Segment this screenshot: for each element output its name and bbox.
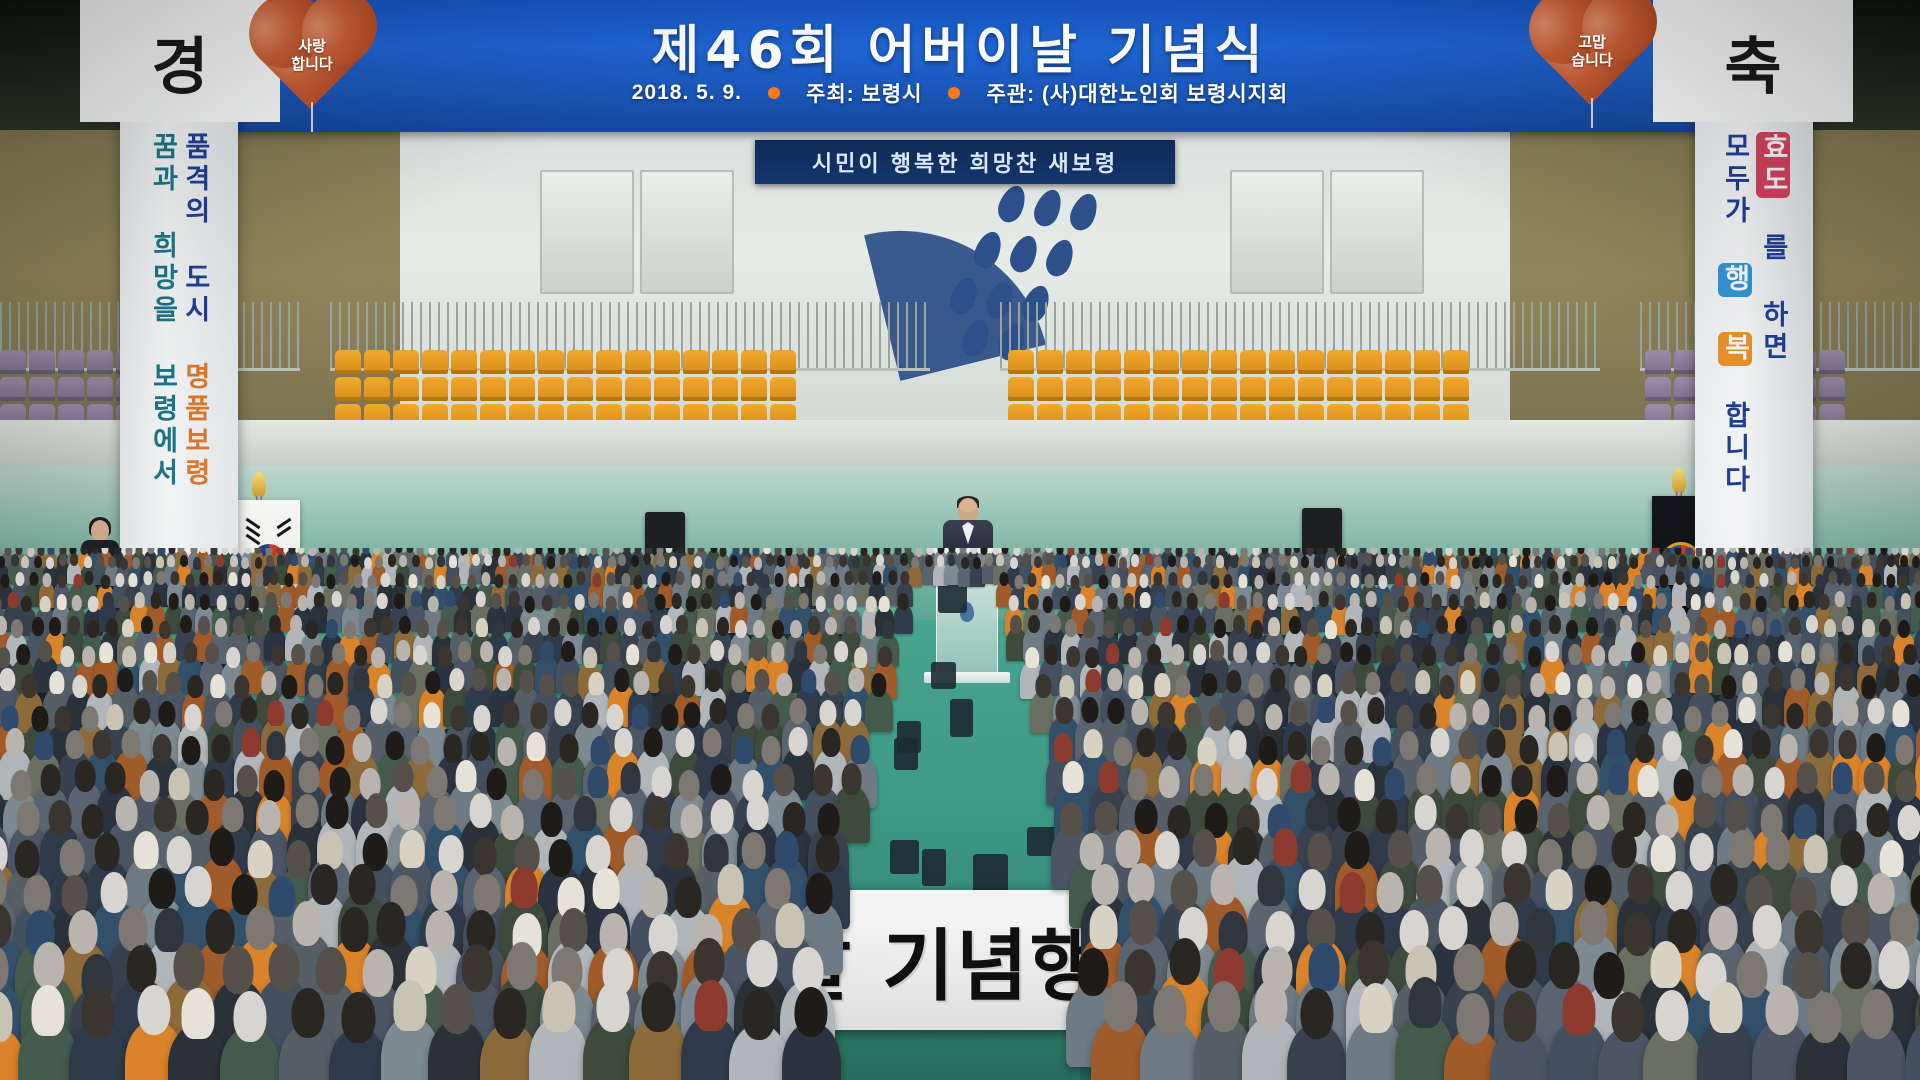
audience-head bbox=[807, 548, 814, 557]
audience-head bbox=[1045, 553, 1053, 565]
audience-head bbox=[406, 548, 413, 553]
audience-head bbox=[268, 700, 285, 726]
audience-head bbox=[738, 703, 755, 729]
audience-head bbox=[1459, 829, 1484, 867]
audience-head bbox=[88, 596, 99, 612]
audience-head bbox=[519, 645, 533, 666]
audience-head bbox=[1770, 619, 1782, 637]
audience-head bbox=[1565, 548, 1572, 556]
audience-head bbox=[49, 800, 72, 835]
audience-head bbox=[455, 616, 467, 634]
audience-head bbox=[128, 573, 137, 587]
audience-head bbox=[1504, 643, 1518, 664]
audience-head bbox=[1084, 574, 1093, 588]
audience-head bbox=[266, 731, 285, 760]
audience-head bbox=[527, 732, 546, 761]
audience-head bbox=[829, 548, 836, 555]
audience-head bbox=[1450, 762, 1471, 794]
audience-head bbox=[372, 647, 386, 668]
audience-head bbox=[1121, 548, 1128, 556]
audience-head bbox=[240, 697, 257, 723]
audience-head bbox=[1640, 620, 1652, 638]
audience-head bbox=[1053, 733, 1072, 762]
audience-head bbox=[1836, 548, 1843, 555]
audience-head bbox=[311, 864, 338, 905]
audience-head bbox=[1819, 594, 1830, 610]
audience-head bbox=[1216, 555, 1224, 567]
audience-head bbox=[1060, 596, 1071, 612]
audience-head bbox=[844, 616, 856, 634]
audience-head bbox=[498, 646, 512, 667]
audience-head bbox=[1485, 556, 1493, 568]
audience-head bbox=[56, 594, 67, 610]
audience-head bbox=[1652, 548, 1659, 553]
audience-head bbox=[1056, 697, 1073, 723]
audience-head bbox=[1219, 548, 1226, 553]
audience-head bbox=[534, 554, 542, 566]
audience-head bbox=[1255, 980, 1288, 1031]
left-balloon-line1: 사랑 bbox=[298, 39, 326, 55]
audience-head bbox=[582, 556, 590, 568]
audience-head bbox=[900, 571, 909, 585]
seat bbox=[1240, 377, 1266, 401]
audience-head bbox=[193, 557, 201, 569]
audience-head bbox=[205, 643, 219, 664]
right-balloon-line2: 습니다 bbox=[1571, 53, 1612, 69]
audience-head bbox=[1236, 595, 1247, 611]
audience-head bbox=[1459, 730, 1478, 759]
audience-head bbox=[618, 554, 626, 566]
audience-head bbox=[1187, 548, 1194, 555]
city-slogan-banner: 시민이 행복한 희망찬 새보령 bbox=[755, 140, 1175, 184]
audience-head bbox=[1098, 761, 1119, 793]
audience-head bbox=[1128, 647, 1142, 668]
audience-head bbox=[694, 556, 702, 568]
audience-head bbox=[548, 618, 560, 636]
audience-head bbox=[1085, 647, 1099, 668]
audience-head bbox=[16, 644, 30, 665]
audience-head bbox=[314, 592, 325, 608]
audience-head bbox=[431, 870, 458, 911]
audience-head bbox=[215, 701, 232, 727]
audience-head bbox=[1225, 762, 1246, 794]
audience-head bbox=[1898, 805, 1920, 840]
audience-head bbox=[1826, 548, 1833, 554]
audience-head bbox=[1365, 672, 1380, 696]
audience-head bbox=[1302, 595, 1313, 611]
audience-head bbox=[396, 640, 410, 661]
audience-head bbox=[1288, 731, 1307, 760]
audience-head bbox=[742, 556, 750, 568]
audience-head bbox=[95, 833, 120, 871]
audience-head bbox=[1592, 645, 1606, 666]
audience-head bbox=[1788, 595, 1799, 611]
audience-head bbox=[825, 671, 840, 695]
audience-head bbox=[1759, 573, 1768, 587]
audience-head bbox=[574, 796, 597, 831]
audience-head bbox=[1656, 555, 1664, 567]
audience-head bbox=[472, 554, 480, 566]
seat bbox=[509, 377, 535, 401]
audience-head bbox=[0, 556, 6, 568]
audience-head bbox=[1158, 702, 1175, 728]
audience-head bbox=[1505, 573, 1514, 587]
audience-head bbox=[542, 595, 553, 611]
audience-head bbox=[1763, 703, 1780, 729]
audience-head bbox=[1646, 671, 1661, 695]
audience-head bbox=[1290, 556, 1298, 568]
audience-head bbox=[1534, 556, 1542, 568]
audience-head bbox=[1609, 645, 1623, 666]
audience-head bbox=[753, 548, 760, 556]
audience-head bbox=[476, 618, 488, 636]
audience-head bbox=[228, 572, 237, 586]
audience-head bbox=[1575, 573, 1584, 587]
audience-head bbox=[1800, 572, 1809, 586]
audience-head bbox=[1549, 571, 1558, 585]
audience-head bbox=[269, 615, 281, 633]
audience-head bbox=[1265, 704, 1282, 730]
audience-head bbox=[1060, 802, 1083, 837]
audience-head bbox=[1696, 548, 1703, 557]
audience-head bbox=[1265, 557, 1273, 569]
audience-head bbox=[188, 675, 203, 699]
audience-head bbox=[1388, 830, 1413, 868]
audience-head bbox=[80, 548, 87, 555]
audience-head bbox=[234, 594, 245, 610]
audience-head bbox=[1141, 618, 1153, 636]
audience-head bbox=[115, 573, 124, 587]
audience-head bbox=[1559, 592, 1570, 608]
audience-head bbox=[1627, 864, 1654, 905]
seat bbox=[393, 377, 419, 401]
audience-head bbox=[1632, 700, 1649, 726]
audience-head bbox=[1108, 593, 1119, 609]
audience-member bbox=[865, 690, 892, 732]
audience-head bbox=[718, 571, 727, 585]
audience-head bbox=[1530, 673, 1545, 697]
audience-head bbox=[720, 592, 731, 608]
audience-head bbox=[711, 799, 734, 834]
audience-head bbox=[590, 736, 609, 765]
audience-head bbox=[297, 595, 308, 611]
audience-head bbox=[540, 641, 554, 662]
audience-head bbox=[1290, 700, 1307, 726]
audience-head bbox=[784, 594, 795, 610]
audience-head bbox=[132, 557, 140, 569]
audience-head bbox=[540, 802, 563, 837]
audience-head bbox=[948, 548, 955, 553]
audience-head bbox=[743, 548, 750, 554]
audience-head bbox=[819, 548, 826, 554]
audience-head bbox=[1171, 591, 1182, 607]
seat bbox=[1414, 377, 1440, 401]
city-slogan-text: 시민이 행복한 희망찬 새보령 bbox=[812, 146, 1118, 178]
audience-head bbox=[429, 548, 436, 555]
audience-head bbox=[1027, 573, 1036, 587]
seat bbox=[1240, 350, 1266, 374]
audience-head bbox=[850, 735, 869, 764]
audience-head bbox=[1904, 644, 1918, 665]
audience-head bbox=[1599, 548, 1606, 556]
audience-head bbox=[249, 596, 260, 612]
audience-head bbox=[223, 946, 254, 993]
audience-head bbox=[424, 702, 441, 728]
audience-head bbox=[270, 571, 279, 585]
banner-host: 주최: 보령시 bbox=[806, 78, 922, 108]
audience-head bbox=[496, 668, 511, 692]
audience-head bbox=[1407, 573, 1416, 587]
audience-head bbox=[371, 698, 388, 724]
audience-head bbox=[1504, 863, 1531, 904]
seat bbox=[1037, 350, 1063, 374]
seat bbox=[538, 350, 564, 374]
audience-head bbox=[1078, 948, 1109, 995]
audience-head bbox=[1725, 799, 1748, 834]
audience-head bbox=[1546, 765, 1567, 797]
audience-head bbox=[1506, 941, 1537, 988]
audience-head bbox=[1082, 556, 1090, 568]
right-banner-column-front: 모두가 행 복 합니다 bbox=[1718, 128, 1752, 578]
audience-head bbox=[717, 617, 729, 635]
audience-head bbox=[701, 593, 712, 609]
audience-head bbox=[1668, 554, 1676, 566]
audience-chair bbox=[950, 699, 974, 738]
audience-head bbox=[1202, 673, 1217, 697]
audience-head bbox=[1779, 734, 1798, 763]
audience-head bbox=[1736, 951, 1767, 998]
audience-head bbox=[1545, 869, 1572, 910]
audience-head bbox=[1451, 575, 1460, 589]
audience-head bbox=[716, 557, 724, 569]
audience-head bbox=[1391, 669, 1406, 693]
audience-head bbox=[1361, 617, 1373, 635]
audience-head bbox=[204, 769, 225, 801]
audience-head bbox=[530, 702, 547, 728]
audience-head bbox=[315, 556, 323, 568]
audience-head bbox=[82, 646, 96, 667]
audience-head bbox=[826, 556, 834, 568]
audience-head bbox=[347, 594, 358, 610]
audience-head bbox=[498, 555, 506, 567]
seat bbox=[712, 350, 738, 374]
audience-head bbox=[675, 877, 702, 918]
audience-head bbox=[1317, 674, 1332, 698]
audience-head bbox=[1860, 989, 1893, 1040]
audience-head bbox=[1714, 620, 1726, 638]
audience-head bbox=[1729, 830, 1754, 868]
audience-head bbox=[1717, 555, 1725, 567]
audience-head bbox=[286, 840, 311, 878]
audience-head bbox=[927, 548, 934, 555]
bullet-dot-icon bbox=[768, 87, 780, 99]
audience-head bbox=[151, 592, 162, 608]
audience-head bbox=[634, 548, 641, 554]
seat bbox=[770, 350, 796, 374]
audience-head bbox=[1791, 557, 1799, 569]
audience-head bbox=[1309, 943, 1340, 990]
audience-head bbox=[970, 548, 977, 554]
audience-head bbox=[1548, 942, 1579, 989]
audience-head bbox=[326, 619, 338, 637]
audience-head bbox=[581, 702, 598, 728]
audience-head bbox=[292, 644, 306, 665]
audience-head bbox=[1193, 556, 1201, 568]
audience-head bbox=[212, 734, 231, 763]
audience-head bbox=[1827, 556, 1835, 568]
audience-head bbox=[747, 940, 778, 987]
audience-head bbox=[57, 574, 66, 588]
audience-head bbox=[1740, 593, 1751, 609]
audience-head bbox=[115, 796, 138, 831]
audience-head bbox=[163, 642, 177, 663]
audience-head bbox=[1772, 548, 1779, 555]
audience-head bbox=[799, 593, 810, 609]
audience-head bbox=[184, 642, 198, 663]
audience-head bbox=[246, 906, 275, 950]
audience-head bbox=[507, 942, 538, 989]
audience-head bbox=[1577, 548, 1584, 554]
audience-head bbox=[1638, 765, 1659, 797]
audience-head bbox=[660, 615, 672, 633]
audience-head bbox=[1111, 548, 1118, 554]
audience-head bbox=[1140, 592, 1151, 608]
audience-head bbox=[1025, 647, 1039, 668]
audience-head bbox=[1164, 548, 1171, 554]
seat bbox=[58, 350, 84, 374]
audience-head bbox=[144, 642, 158, 663]
audience-head bbox=[1751, 617, 1763, 635]
seat bbox=[1327, 350, 1353, 374]
audience-head bbox=[1840, 830, 1865, 868]
audience-head bbox=[437, 575, 446, 589]
audience-head bbox=[1604, 618, 1616, 636]
audience-head bbox=[185, 866, 212, 907]
audience-head bbox=[709, 698, 726, 724]
audience-head bbox=[282, 675, 297, 699]
seat bbox=[1182, 377, 1208, 401]
audience-head bbox=[815, 834, 840, 872]
audience-head bbox=[1867, 592, 1878, 608]
seat bbox=[770, 377, 796, 401]
audience-head bbox=[852, 556, 860, 568]
audience-head bbox=[92, 674, 107, 698]
audience-head bbox=[1180, 556, 1188, 568]
audience-head bbox=[1603, 571, 1612, 585]
audience-head bbox=[1581, 554, 1589, 566]
audience-head bbox=[1145, 553, 1153, 565]
audience-head bbox=[1647, 575, 1656, 589]
audience-head bbox=[1864, 762, 1885, 794]
audience-head bbox=[60, 646, 74, 667]
audience-head bbox=[1194, 616, 1206, 634]
audience-head bbox=[1631, 642, 1645, 663]
audience-head bbox=[1587, 548, 1594, 554]
audience-head bbox=[841, 763, 862, 795]
audience-head bbox=[439, 646, 453, 667]
bullet-dot-icon bbox=[948, 87, 960, 99]
host-head bbox=[91, 520, 109, 542]
audience-head bbox=[73, 574, 82, 588]
left-banner-columns: 꿈과 희망을 보령에서 품격의 도시 명품보령 bbox=[120, 128, 238, 578]
audience-head bbox=[602, 548, 609, 557]
audience-head bbox=[614, 728, 633, 757]
audience-head bbox=[1627, 674, 1642, 698]
audience-head bbox=[1804, 591, 1815, 607]
audience-head bbox=[376, 902, 405, 946]
audience-head bbox=[1106, 643, 1120, 664]
audience-head bbox=[643, 553, 651, 565]
seat-row bbox=[1008, 350, 1469, 374]
seat bbox=[567, 350, 593, 374]
audience-head bbox=[634, 671, 649, 695]
seat bbox=[1269, 377, 1295, 401]
audience-head bbox=[671, 593, 682, 609]
audience-head bbox=[1448, 594, 1459, 610]
audience-head bbox=[889, 570, 898, 584]
audience-head bbox=[449, 548, 456, 554]
seat bbox=[741, 350, 767, 374]
audience-head bbox=[676, 615, 688, 633]
audience-head bbox=[623, 548, 630, 554]
audience-head bbox=[631, 555, 639, 567]
audience-head bbox=[1059, 556, 1067, 568]
audience-head bbox=[1128, 675, 1143, 699]
audience-head bbox=[1498, 553, 1506, 565]
audience-head bbox=[1183, 574, 1192, 588]
audience-head bbox=[1198, 571, 1207, 585]
seat bbox=[1645, 350, 1671, 374]
audience-head bbox=[401, 672, 416, 696]
audience-head bbox=[509, 591, 520, 607]
audience-head bbox=[542, 981, 575, 1032]
right-banner-front-2: 합니다 bbox=[1720, 401, 1750, 497]
audience-head bbox=[1856, 573, 1865, 587]
audience-head bbox=[1205, 554, 1213, 566]
audience-head bbox=[1078, 548, 1085, 554]
audience-head bbox=[817, 803, 840, 838]
audience-head bbox=[226, 647, 240, 668]
audience-head bbox=[92, 548, 99, 554]
audience-head bbox=[1252, 556, 1260, 568]
audience-head bbox=[1765, 985, 1798, 1036]
audience-head bbox=[764, 868, 791, 909]
audience-head bbox=[1131, 554, 1139, 566]
seat bbox=[480, 377, 506, 401]
seat bbox=[422, 377, 448, 401]
audience-head bbox=[349, 864, 376, 905]
seat bbox=[335, 350, 361, 374]
audience-head bbox=[395, 573, 404, 587]
audience-head bbox=[4, 548, 11, 556]
audience-head bbox=[474, 705, 491, 731]
audience-head bbox=[1832, 762, 1853, 794]
audience-head bbox=[1066, 646, 1080, 667]
audience-head bbox=[1711, 701, 1728, 727]
audience-head bbox=[1906, 674, 1920, 698]
audience-head bbox=[816, 571, 825, 585]
audience-head bbox=[1210, 864, 1237, 905]
audience-head bbox=[1787, 703, 1804, 729]
audience-head bbox=[1568, 644, 1582, 665]
balloon-string bbox=[1591, 98, 1593, 128]
audience-head bbox=[1234, 642, 1248, 663]
audience-head bbox=[1128, 863, 1155, 904]
audience-head bbox=[1111, 574, 1120, 588]
seat bbox=[87, 350, 113, 374]
seat bbox=[1153, 350, 1179, 374]
audience-head bbox=[1579, 901, 1608, 945]
